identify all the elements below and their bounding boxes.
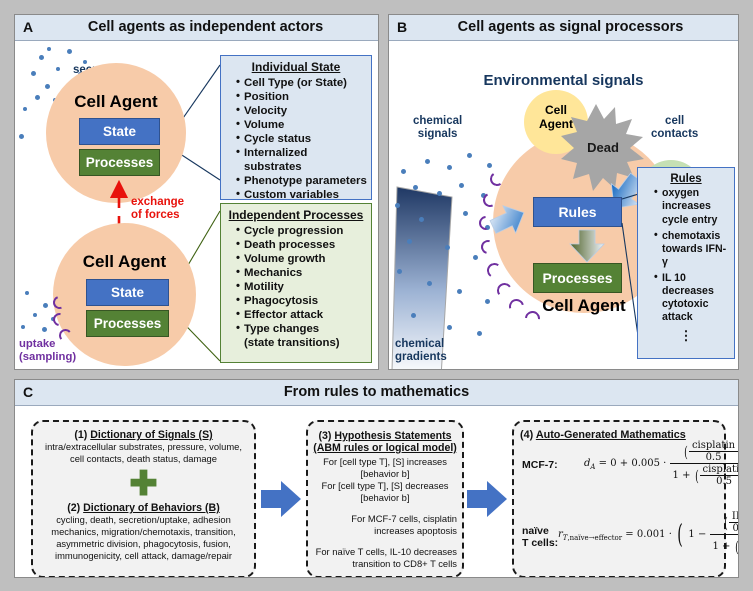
uptake-dot	[33, 313, 37, 317]
signal-dot	[401, 169, 406, 174]
hypothesis-example-1: For MCF-7 cells, cisplatin increases apo…	[313, 513, 457, 537]
cell-agent-bottom-label: Cell Agent	[53, 252, 196, 272]
signal-dot	[437, 191, 442, 196]
list-item: Position	[236, 90, 368, 104]
signal-dot	[35, 95, 40, 100]
signal-dot	[427, 281, 432, 286]
list-item: IL 10 decreases cytotoxic attack	[654, 272, 730, 325]
panel-c-body: (1) Dictionary of Signals (S) intra/extr…	[15, 406, 738, 577]
list-item: Mechanics	[236, 266, 368, 280]
list-item: Volume	[236, 118, 368, 132]
rules-ellipsis: ⋮	[642, 328, 730, 344]
panel-a-header: A Cell agents as independent actors	[15, 15, 378, 41]
panel-b-header: B Cell agents as signal processors	[389, 15, 738, 41]
chemical-gradients-label: chemical gradients	[395, 338, 447, 364]
naive-tcells-label: naïve T cells:	[522, 525, 558, 550]
eq1-lhs-sub: A	[590, 463, 595, 471]
panel-a-body: secretion Cell Agent State Processes exc…	[15, 41, 378, 369]
environmental-signals-heading: Environmental signals	[389, 72, 738, 89]
neighbor-cell-yellow-label: Cell Agent	[524, 104, 588, 132]
eq1-halfmax-den: 0.5	[700, 476, 740, 487]
rules-list: oxygen increases cycle entry chemotaxis …	[642, 187, 730, 324]
signals-dictionary-heading: (1) Dictionary of Signals (S)	[38, 429, 249, 441]
dictionaries-box: (1) Dictionary of Signals (S) intra/extr…	[31, 420, 256, 578]
signal-dot	[459, 183, 464, 188]
state-box-top: State	[79, 118, 160, 145]
eq2-halfmax: 0.25	[729, 523, 739, 534]
eq1-signal-den: cisplatin	[700, 464, 740, 476]
list-item-continuation: (state transitions)	[244, 336, 368, 350]
list-item: Motility	[236, 280, 368, 294]
panel-a: A Cell agents as independent actors secr…	[14, 14, 379, 370]
receptor-halfmoon	[486, 262, 503, 279]
panel-c: C From rules to mathematics (1) Dictiona…	[14, 379, 739, 578]
signal-dot	[425, 159, 430, 164]
list-item: Cycle progression	[236, 224, 368, 238]
signal-dot	[487, 163, 492, 168]
signal-dot	[56, 67, 60, 71]
individual-state-title: Individual State	[224, 60, 368, 75]
uptake-dot	[25, 291, 29, 295]
behaviors-dictionary-body: cycling, death, secretion/uptake, adhesi…	[38, 514, 249, 562]
independent-processes-title: Independent Processes	[224, 208, 368, 223]
processes-box-main: Processes	[533, 263, 622, 293]
uptake-dot	[42, 327, 47, 332]
signal-dot	[413, 185, 418, 190]
list-item: Internalized substrates	[236, 146, 368, 174]
list-item: Phenotype parameters	[236, 174, 368, 188]
signal-dot	[31, 71, 36, 76]
signal-dot	[411, 313, 416, 318]
signal-dot	[45, 84, 50, 89]
signal-dot	[419, 217, 424, 222]
eq1-base: 0	[610, 458, 616, 469]
equation-mcf7: dA = 0 + 0.005 · (cisplatin0.5)4 1 + (ci…	[584, 440, 739, 487]
signal-dot	[39, 55, 44, 60]
independent-processes-list: Cycle progression Death processes Volume…	[224, 224, 368, 351]
list-item: Cycle status	[236, 132, 368, 146]
signals-dictionary-body: intra/extracellular substrates, pressure…	[38, 441, 249, 465]
hypothesis-subtitle: (ABM rules or logical model)	[313, 442, 457, 454]
signal-dot	[463, 211, 468, 216]
individual-state-list: Cell Type (or State) Position Velocity V…	[224, 76, 368, 203]
uptake-dot	[43, 303, 48, 308]
chemical-signals-label: chemical signals	[413, 115, 462, 141]
signal-dot	[447, 325, 452, 330]
panel-b: B Cell agents as signal processors Envir…	[388, 14, 739, 370]
individual-state-box: Individual State Cell Type (or State) Po…	[220, 55, 372, 200]
signal-dot	[485, 299, 490, 304]
signal-dot	[407, 239, 412, 244]
panel-b-body: Environmental signals chemical gradients…	[389, 41, 738, 369]
rules-list-title: Rules	[642, 172, 730, 186]
list-item: Velocity	[236, 104, 368, 118]
rules-list-box: Rules oxygen increases cycle entry chemo…	[637, 167, 735, 359]
state-box-bottom: State	[86, 279, 169, 306]
processes-box-bottom: Processes	[86, 310, 169, 337]
cell-contacts-label: cell contacts	[651, 115, 698, 141]
auto-generated-mathematics-box: (4) Auto-Generated Mathematics MCF-7: dA…	[512, 420, 726, 578]
plus-icon: ✚	[129, 467, 158, 501]
list-item: Volume growth	[236, 252, 368, 266]
cell-agent-top-label: Cell Agent	[46, 92, 186, 112]
eq2-coefficient: 0.001	[637, 529, 666, 540]
eq1-coefficient: 0.005	[631, 458, 660, 469]
hypothesis-example-2: For naïve T cells, IL-10 decreases trans…	[313, 546, 457, 570]
signal-dot	[395, 203, 400, 208]
independent-processes-box: Independent Processes Cycle progression …	[220, 203, 372, 363]
list-item: Cell Type (or State)	[236, 76, 368, 90]
signal-dot	[445, 245, 450, 250]
signal-dot	[47, 47, 51, 51]
signal-dot	[473, 255, 478, 260]
hypothesis-statements-box: (3) Hypothesis Statements (ABM rules or …	[306, 420, 464, 578]
signal-dot	[67, 49, 72, 54]
eq1-halfmax: 0.5	[689, 452, 738, 463]
signal-dot	[457, 289, 462, 294]
eq2-lhs-sub: T,naïve→effector	[563, 534, 622, 542]
uptake-sampling-label: uptake (sampling)	[19, 338, 76, 363]
list-item: oxygen increases cycle entry	[654, 187, 730, 226]
hypothesis-line-1: For [cell type T], [S] increases [behavi…	[313, 456, 457, 480]
dead-label: Dead	[575, 140, 631, 155]
behaviors-dictionary-heading: (2) Dictionary of Behaviors (B)	[38, 502, 249, 514]
panel-c-header: C From rules to mathematics	[15, 380, 738, 406]
signal-dot	[19, 134, 24, 139]
mcf7-label: MCF-7:	[522, 459, 558, 471]
eq1-signal: cisplatin	[689, 440, 738, 452]
list-item: Effector attack	[236, 308, 368, 322]
uptake-dot	[21, 325, 25, 329]
equation-naive-tcells: rT,naïve→effector = 0.001 · ( 1 − (IL100…	[558, 511, 739, 558]
eq2-signal: IL10	[729, 511, 739, 523]
list-item: Type changes (state transitions)	[236, 322, 368, 350]
signal-dot	[477, 331, 482, 336]
signal-dot	[397, 269, 402, 274]
list-item: Death processes	[236, 238, 368, 252]
signal-dot	[23, 107, 27, 111]
signal-dot	[467, 153, 472, 158]
signal-dot	[447, 165, 452, 170]
panel-a-title: Cell agents as independent actors	[15, 19, 378, 35]
hypothesis-line-2: For [cell type T], [S] decreases [behavi…	[313, 480, 457, 504]
list-item: chemotaxis towards IFN-γ	[654, 230, 730, 269]
exchange-of-forces-label: exchange of forces	[131, 196, 184, 222]
rules-box: Rules	[533, 197, 622, 227]
list-item: Phagocytosis	[236, 294, 368, 308]
list-item: Custom variables	[236, 188, 368, 202]
panel-c-title: From rules to mathematics	[15, 384, 738, 400]
hypothesis-heading: (3) Hypothesis Statements	[313, 430, 457, 442]
panel-b-title: Cell agents as signal processors	[389, 19, 738, 35]
processes-box-top: Processes	[79, 149, 160, 176]
